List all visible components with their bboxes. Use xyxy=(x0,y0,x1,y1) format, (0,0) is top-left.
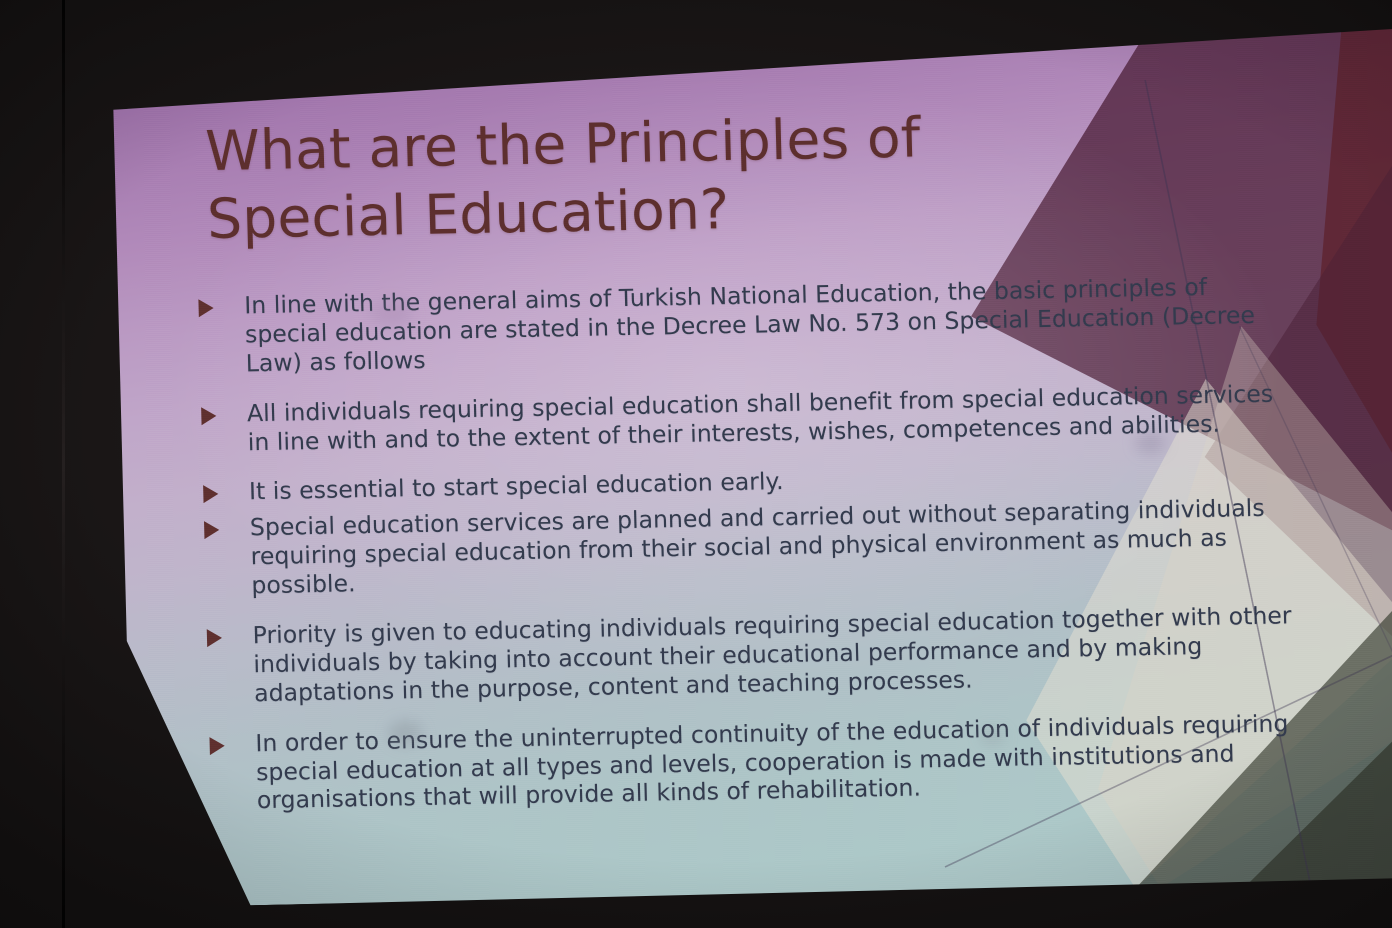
screen-vignette xyxy=(104,23,1392,908)
projected-slide-photo: What are the Principles of Special Educa… xyxy=(0,0,1392,928)
presentation-slide: What are the Principles of Special Educa… xyxy=(104,23,1392,908)
wall-seam xyxy=(62,0,65,928)
